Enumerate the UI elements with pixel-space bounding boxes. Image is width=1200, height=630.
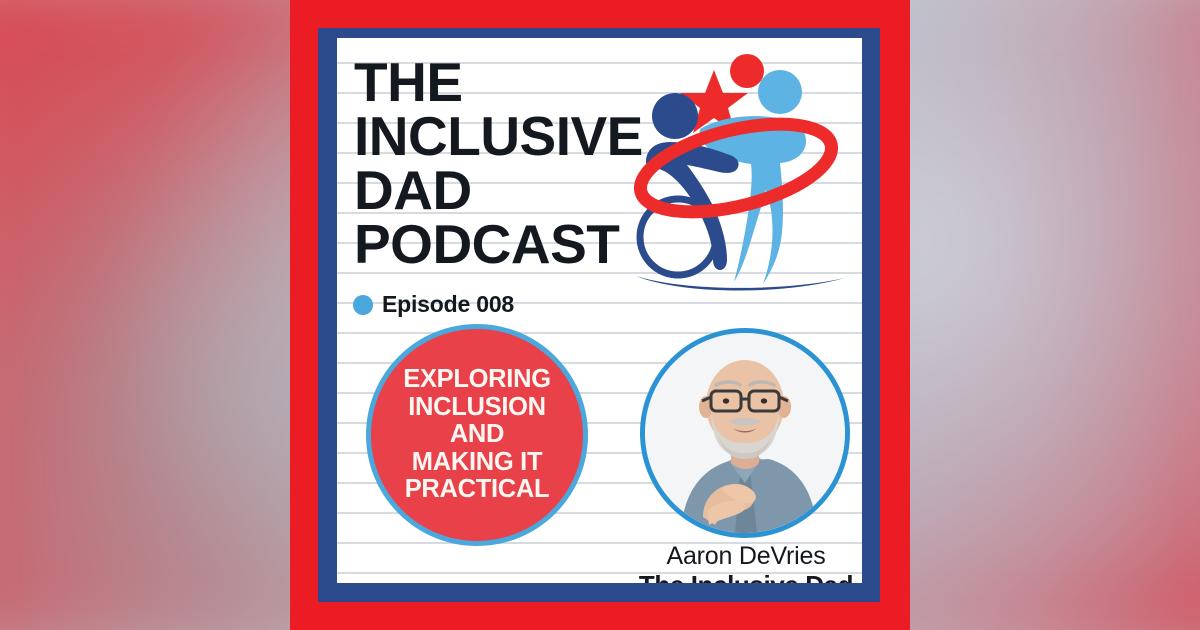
topic-line-2: INCLUSION [403, 394, 551, 422]
topic-line-5: PRACTICAL [403, 476, 551, 504]
logo-ground-arc-icon [636, 276, 845, 291]
podcast-cover-card: THE INCLUSIVE DAD PODCAST Episode 008 [290, 0, 910, 630]
logo-dark-head-icon [652, 93, 698, 139]
episode-label: Episode 008 [382, 291, 514, 318]
topic-badge-text: EXPLORING INCLUSION AND MAKING IT PRACTI… [403, 366, 551, 504]
lined-paper-panel: THE INCLUSIVE DAD PODCAST Episode 008 [337, 38, 862, 583]
episode-dot-icon [353, 295, 373, 315]
host-name: Aaron DeVries [617, 543, 862, 571]
navy-frame-border: THE INCLUSIVE DAD PODCAST Episode 008 [318, 28, 880, 602]
topic-line-3: AND [403, 421, 551, 449]
topic-line-4: MAKING IT [403, 449, 551, 477]
logo-light-head-icon [758, 70, 802, 114]
topic-badge: EXPLORING INCLUSION AND MAKING IT PRACTI… [366, 324, 588, 546]
host-name-block: Aaron DeVries The Inclusive Dad [617, 543, 862, 583]
topic-line-1: EXPLORING [403, 366, 551, 394]
podcast-cover-screenshot: THE INCLUSIVE DAD PODCAST Episode 008 [0, 0, 1200, 630]
logo-red-dot-icon [730, 54, 764, 88]
inclusive-dad-logo-icon [630, 44, 858, 296]
host-tagline: The Inclusive Dad [617, 571, 862, 584]
host-portrait-icon [640, 328, 850, 538]
episode-badge: Episode 008 [353, 291, 514, 318]
